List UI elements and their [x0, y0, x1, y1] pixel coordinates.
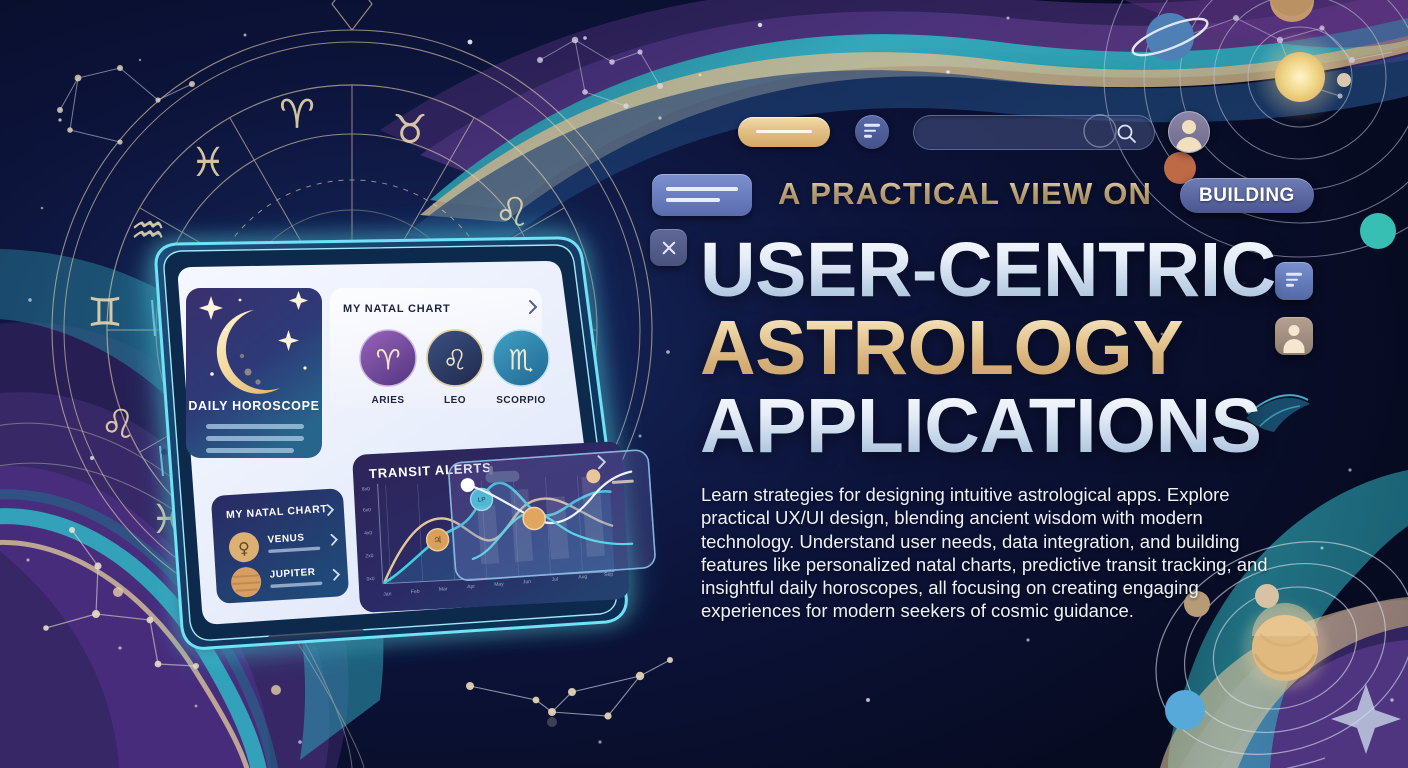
menu-icon	[864, 124, 880, 141]
natal-chart-title: MY NATAL CHART	[343, 303, 451, 315]
svg-text:0x0: 0x0	[366, 576, 375, 582]
svg-text:♏: ♏	[508, 344, 533, 377]
body-paragraph: Learn strategies for designing intuitive…	[701, 483, 1273, 623]
svg-text:Apr: Apr	[467, 584, 475, 590]
menu-icon-button[interactable]	[855, 115, 889, 149]
svg-text:6x0: 6x0	[363, 507, 372, 513]
svg-text:VENUS: VENUS	[267, 532, 305, 545]
avatar[interactable]	[1168, 111, 1210, 153]
search-icon	[1116, 123, 1138, 145]
line-1	[666, 187, 738, 191]
svg-text:4x0: 4x0	[364, 530, 373, 536]
svg-text:Sep: Sep	[604, 572, 613, 578]
daily-horoscope-card: DAILY HOROSCOPE	[186, 288, 322, 458]
svg-text:♈: ♈	[375, 344, 400, 377]
svg-text:ARIES: ARIES	[371, 395, 404, 406]
headline-line-2: ASTROLOGY	[700, 304, 1183, 393]
svg-text:Aug: Aug	[578, 574, 587, 580]
line-2	[666, 198, 720, 202]
close-button[interactable]	[650, 229, 687, 266]
natal-chart-card: MY NATAL CHART ♈ ARIES ♌ LEO ♏ SCORPIO	[330, 288, 549, 408]
search-input[interactable]	[913, 115, 1155, 150]
side-user-button[interactable]	[1275, 317, 1313, 355]
menu-icon	[1286, 273, 1302, 290]
svg-text:Feb: Feb	[411, 589, 420, 595]
kicker-text: A PRACTICAL VIEW ON	[778, 176, 1152, 212]
transit-overlay-card	[448, 449, 656, 581]
svg-text:Jan: Jan	[383, 591, 392, 597]
headline-line-3: APPLICATIONS	[700, 382, 1262, 471]
svg-text:LEO: LEO	[444, 395, 466, 406]
daily-horoscope-title: DAILY HOROSCOPE	[188, 399, 319, 413]
svg-text:2x0: 2x0	[365, 553, 374, 559]
svg-text:SCORPIO: SCORPIO	[496, 395, 546, 406]
svg-text:May: May	[494, 581, 504, 588]
svg-text:Jun: Jun	[523, 579, 532, 585]
svg-text:♀: ♀	[238, 538, 251, 558]
svg-text:Jul: Jul	[551, 577, 558, 583]
zodiac-sign-scorpio: ♏ SCORPIO	[493, 330, 549, 406]
svg-text:♃: ♃	[433, 535, 443, 546]
text-lines-card[interactable]	[652, 174, 752, 216]
side-menu-button[interactable]	[1275, 262, 1313, 300]
avatar-head-icon	[1182, 120, 1196, 134]
status-badge[interactable]: BUILDING	[1180, 178, 1314, 213]
natal-list-card: MY NATAL CHART ♀ VENUS JUPITER	[211, 488, 349, 604]
user-icon	[1289, 325, 1300, 336]
svg-text:Mar: Mar	[439, 586, 448, 592]
svg-text:♌: ♌	[442, 344, 467, 377]
banner-canvas: ♈ ♉ ♌ ♍ ♓ ♒ ♊ ♌ ♓	[0, 0, 1408, 768]
svg-text:8x0: 8x0	[362, 486, 371, 492]
primary-action-pill[interactable]	[738, 117, 830, 147]
headline-line-1: USER-CENTRIC	[700, 226, 1276, 315]
pill-label-placeholder	[756, 130, 812, 133]
avatar-body-icon	[1176, 137, 1202, 153]
